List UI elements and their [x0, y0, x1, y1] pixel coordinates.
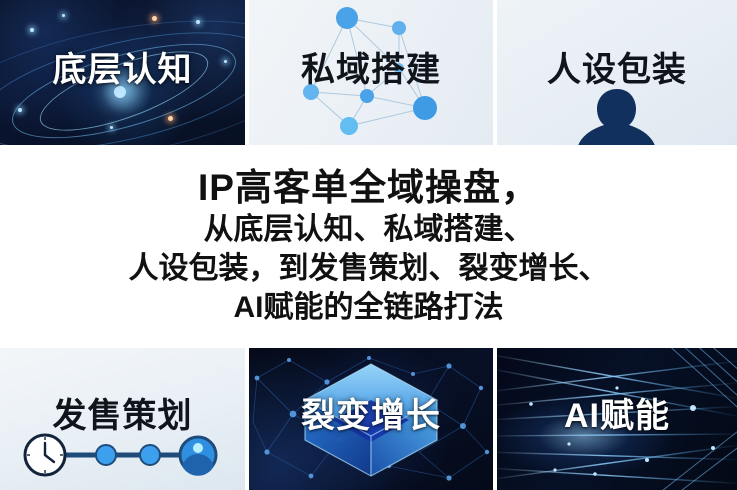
spark-dot-warm [168, 116, 173, 121]
panel-viral-growth[interactable]: 裂变增长 [249, 348, 493, 490]
person-silhouette-icon [558, 87, 676, 145]
spark-dot [196, 20, 200, 24]
headline-block: IP高客单全域操盘， 从底层认知、私域搭建、 人设包装，到发售策划、裂变增长、 … [0, 145, 737, 348]
panel-label-persona-packaging: 人设包装 [497, 42, 737, 91]
top-panel-row: 底层认知 [0, 0, 737, 145]
headline-line-2: 从底层认知、私域搭建、 [204, 210, 534, 249]
headline-line-3: 人设包装，到发售策划、裂变增长、 [129, 249, 609, 288]
spark-dot [18, 108, 22, 112]
spark-dot [30, 28, 34, 32]
panel-label-private-domain-build: 私域搭建 [249, 42, 493, 91]
panel-label-viral-growth: 裂变增长 [249, 388, 493, 437]
panel-foundational-cognition[interactable]: 底层认知 [0, 0, 245, 145]
panel-persona-packaging[interactable]: 人设包装 [497, 0, 737, 145]
timeline-icon [22, 432, 222, 478]
spark-dot-warm [152, 16, 157, 21]
panel-launch-planning[interactable]: 发售策划 [0, 348, 245, 490]
panel-label-ai-empowerment: AI赋能 [497, 388, 737, 437]
spark-dot [62, 14, 65, 17]
panel-ai-empowerment[interactable]: AI赋能 [497, 348, 737, 490]
panel-label-foundational-cognition: 底层认知 [0, 42, 245, 91]
panel-label-launch-planning: 发售策划 [0, 388, 245, 437]
bottom-panel-row: 发售策划 [0, 348, 737, 490]
poster-root: 底层认知 [0, 0, 737, 490]
headline-line-4: AI赋能的全链路打法 [234, 288, 504, 327]
headline-line-1: IP高客单全域操盘， [198, 166, 539, 210]
panel-private-domain-build[interactable]: 私域搭建 [249, 0, 493, 145]
spark-dot [110, 126, 113, 129]
